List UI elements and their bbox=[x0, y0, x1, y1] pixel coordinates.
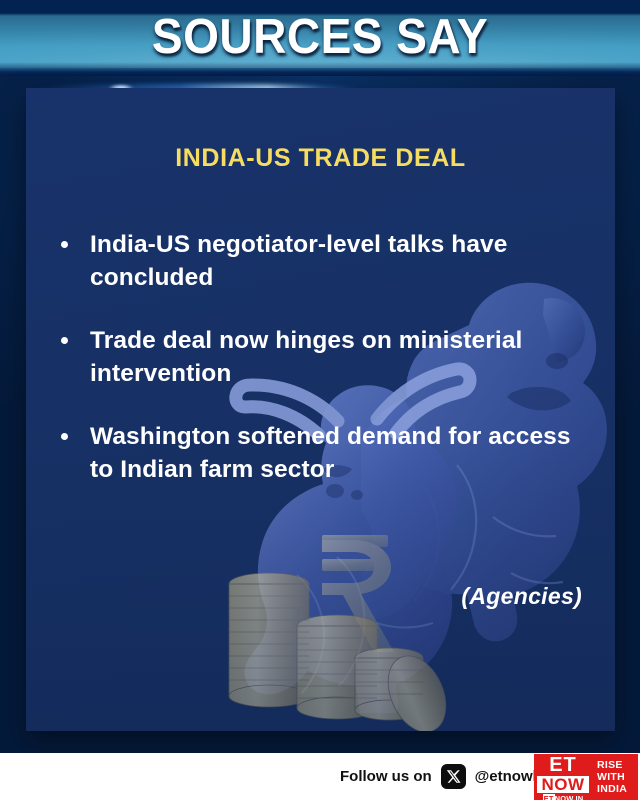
rupee-symbol-icon bbox=[314, 531, 396, 656]
bullet-dot-icon bbox=[61, 337, 68, 344]
content-card: INDIA-US TRADE DEAL India-US negotiator-… bbox=[26, 88, 615, 731]
logo-site-prefix: ET bbox=[543, 794, 555, 800]
list-item: India-US negotiator-level talks have con… bbox=[54, 228, 599, 294]
page-title: INDIA-US TRADE DEAL bbox=[26, 144, 615, 173]
list-item-text: Trade deal now hinges on ministerial int… bbox=[90, 327, 522, 387]
list-item: Washington softened demand for access to… bbox=[54, 420, 599, 486]
bullet-dot-icon bbox=[61, 433, 68, 440]
logo-site-url: ETNOW.IN bbox=[543, 794, 584, 800]
footer-bar: Follow us on @etnowlive ET NOW ETNOW.IN … bbox=[0, 753, 640, 800]
etnow-logo-mark: ET NOW ETNOW.IN bbox=[534, 754, 592, 800]
header-banner: SOURCES SAY bbox=[0, 0, 640, 76]
etnow-logo[interactable]: ET NOW ETNOW.IN RISE WITH INDIA bbox=[534, 754, 638, 800]
graphic-card-screen: SOURCES SAY bbox=[0, 0, 640, 800]
banner-title: SOURCES SAY bbox=[19, 7, 621, 67]
tagline-line-2: WITH bbox=[597, 771, 638, 783]
follow-us-label: Follow us on bbox=[340, 768, 432, 785]
coin-stack-icon bbox=[221, 526, 451, 731]
bullet-list: India-US negotiator-level talks have con… bbox=[54, 228, 599, 486]
tagline-line-3: INDIA bbox=[597, 783, 638, 795]
bullet-dot-icon bbox=[61, 241, 68, 248]
logo-tagline: RISE WITH INDIA bbox=[592, 754, 638, 800]
tagline-line-1: RISE bbox=[597, 759, 638, 771]
logo-site-suffix: NOW.IN bbox=[555, 794, 584, 800]
x-twitter-icon[interactable] bbox=[441, 764, 466, 789]
attribution-text: (Agencies) bbox=[461, 583, 582, 610]
list-item: Trade deal now hinges on ministerial int… bbox=[54, 324, 599, 390]
logo-brand-top: ET bbox=[549, 756, 577, 775]
list-item-text: Washington softened demand for access to… bbox=[90, 423, 571, 483]
follow-us-group: Follow us on @etnowlive bbox=[340, 753, 558, 800]
logo-brand-bottom: NOW bbox=[537, 776, 588, 793]
list-item-text: India-US negotiator-level talks have con… bbox=[90, 231, 508, 291]
